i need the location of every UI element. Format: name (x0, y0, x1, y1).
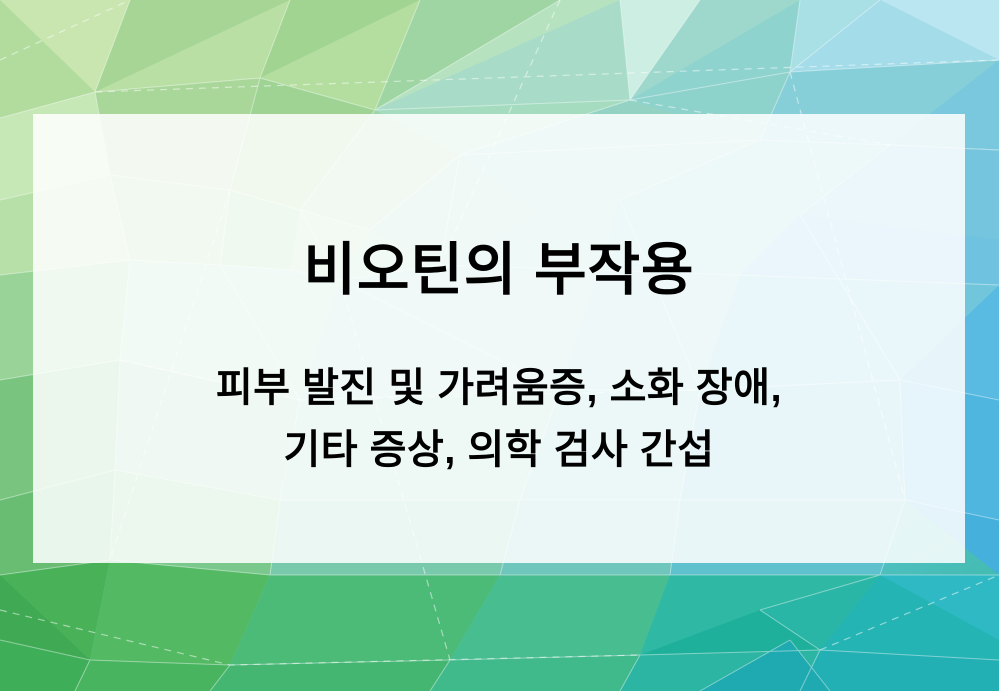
subtitle-line-1: 피부 발진 및 가려움증, 소화 장애, (33, 357, 965, 419)
subtitle-line-2: 기타 증상, 의학 검사 간섭 (33, 419, 965, 481)
content-panel: 비오틴의 부작용 피부 발진 및 가려움증, 소화 장애, 기타 증상, 의학 … (33, 114, 965, 563)
subtitle-block: 피부 발진 및 가려움증, 소화 장애, 기타 증상, 의학 검사 간섭 (33, 357, 965, 481)
page-title: 비오틴의 부작용 (33, 242, 965, 299)
slide-canvas: 비오틴의 부작용 피부 발진 및 가려움증, 소화 장애, 기타 증상, 의학 … (0, 0, 999, 691)
